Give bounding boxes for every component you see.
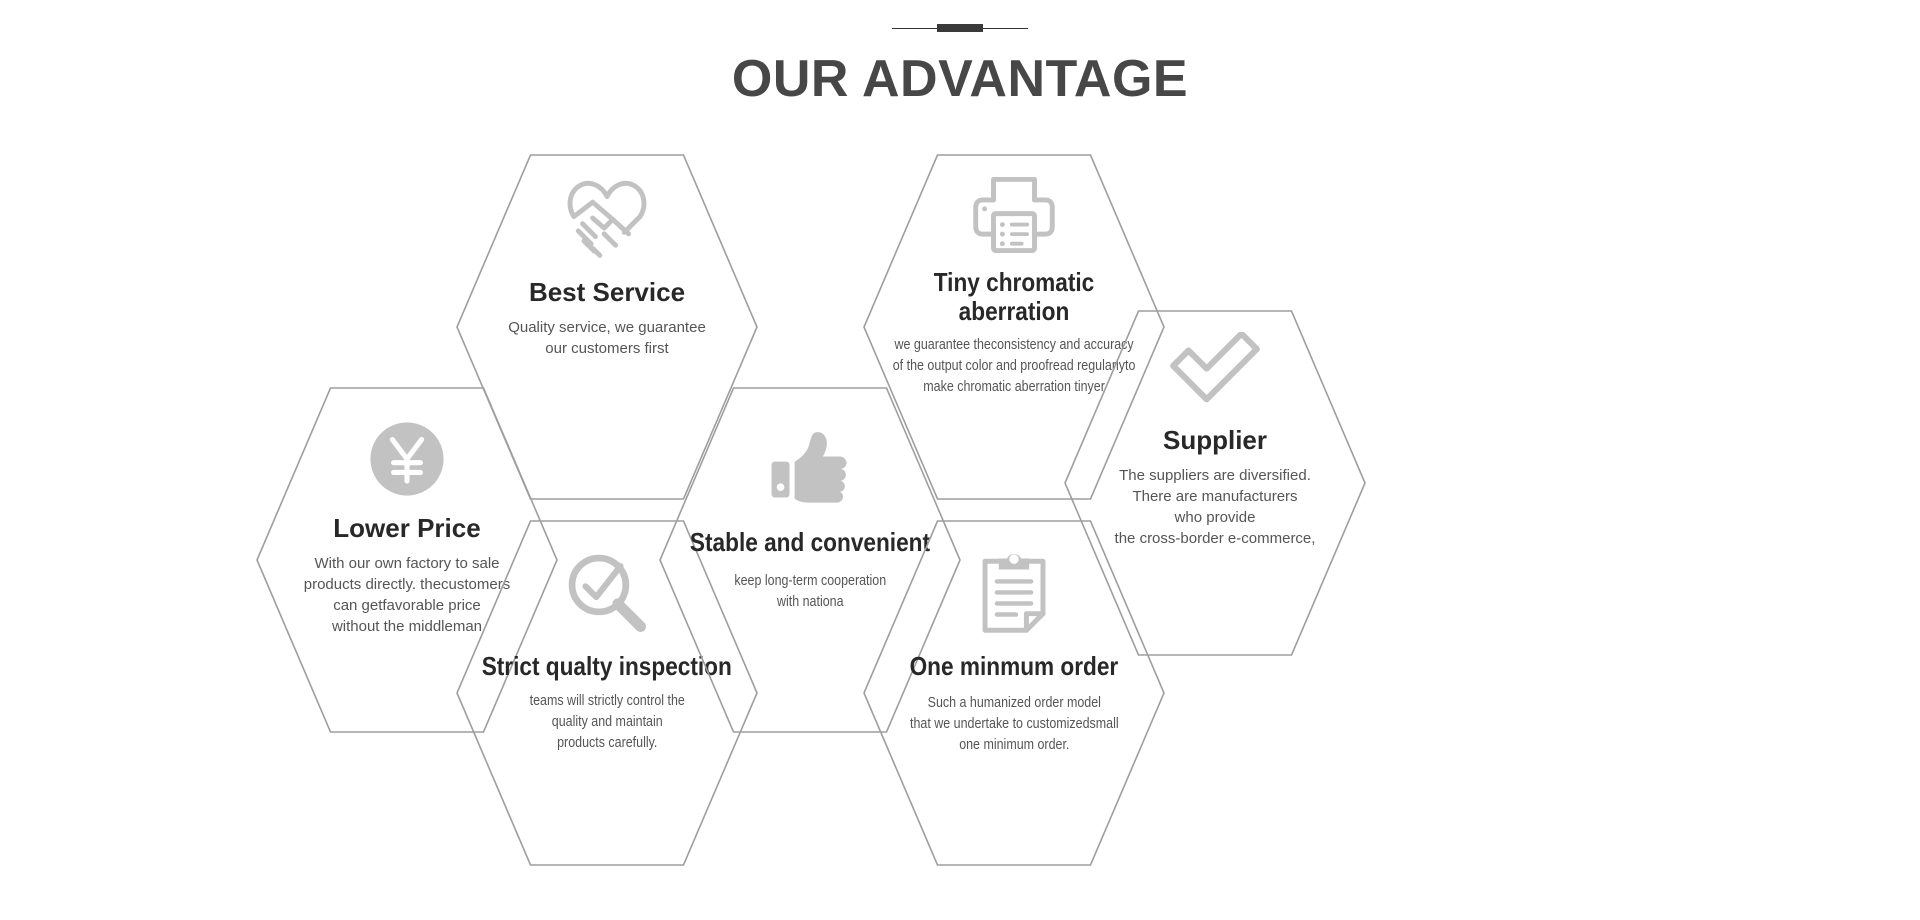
desc-line: Quality service, we guarantee [508, 317, 706, 338]
yen-coin-icon [368, 420, 446, 498]
card-description: Such a humanized order model that we und… [910, 693, 1119, 756]
card-title: Supplier [1163, 426, 1267, 455]
desc-line: our customers first [508, 338, 706, 359]
desc-line: The suppliers are diversified. [1115, 465, 1316, 486]
magnifier-check-icon [564, 550, 650, 636]
page-header: OUR ADVANTAGE [0, 0, 1920, 107]
check-mark-icon [1169, 332, 1261, 408]
desc-line: the cross-border e-commerce, [1115, 528, 1316, 549]
desc-line: products carefully. [529, 733, 684, 754]
advantage-card-supplier[interactable]: Supplier The suppliers are diversified. … [1062, 308, 1368, 658]
divider-center-block [937, 24, 983, 32]
desc-line: There are manufacturers [1115, 486, 1316, 507]
desc-line: that we undertake to customizedsmall [910, 714, 1119, 735]
page-title: OUR ADVANTAGE [0, 52, 1920, 107]
thumbs-up-icon [769, 428, 851, 508]
desc-line: who provide [1115, 507, 1316, 528]
handshake-heart-icon [561, 176, 653, 260]
desc-line: one minimum order. [910, 735, 1119, 756]
card-title: Best Service [529, 278, 685, 307]
desc-line: Such a humanized order model [910, 693, 1119, 714]
clipboard-icon [974, 550, 1054, 636]
card-description: Quality service, we guarantee our custom… [508, 317, 706, 360]
printer-icon [970, 174, 1058, 256]
advantage-honeycomb: Best Service Quality service, we guarant… [0, 0, 1920, 920]
divider-bar-icon [892, 22, 1028, 36]
card-description: The suppliers are diversified. There are… [1115, 465, 1316, 550]
